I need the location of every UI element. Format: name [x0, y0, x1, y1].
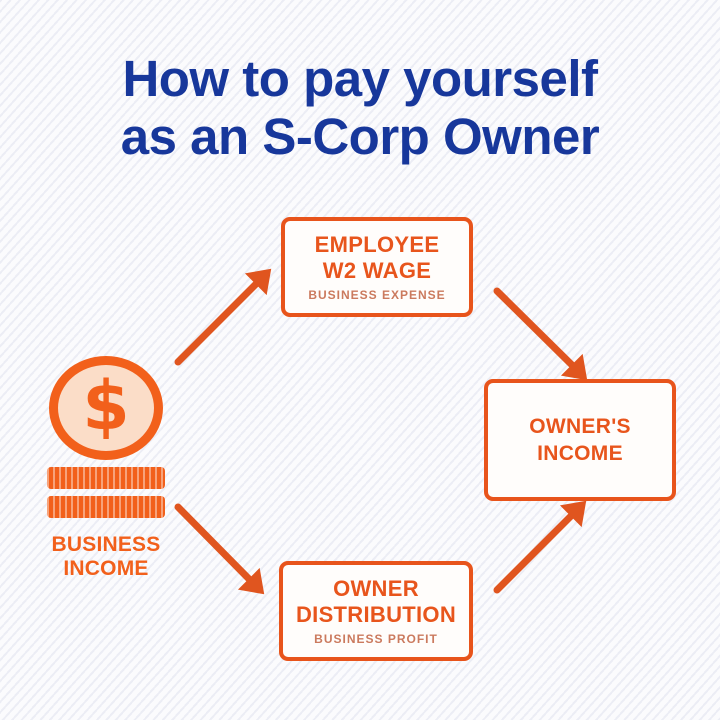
page-title-line-1: How to pay yourself — [0, 50, 720, 108]
node-owners-income-title: OWNER'S INCOME — [529, 413, 631, 467]
business-income-label-line-2: INCOME — [22, 557, 190, 581]
arrow-income-to-distribution — [178, 507, 263, 593]
coin-stack-bar-1 — [47, 467, 165, 489]
node-owner-distribution-title-line-2: DISTRIBUTION — [296, 602, 456, 628]
page-title-line-2: as an S-Corp Owner — [0, 108, 720, 166]
node-employee-w2-wage-title: EMPLOYEE W2 WAGE — [315, 232, 440, 284]
infographic-canvas: How to pay yourself as an S-Corp Owner — [0, 0, 720, 720]
arrow-w2-to-owner-income — [497, 291, 586, 379]
node-employee-w2-wage-subtitle: BUSINESS EXPENSE — [308, 288, 445, 303]
coin-stack-bar-2 — [47, 496, 165, 518]
node-employee-w2-wage-title-line-1: EMPLOYEE — [315, 232, 440, 258]
node-owner-distribution-subtitle: BUSINESS PROFIT — [314, 632, 438, 647]
node-owners-income-title-line-2: INCOME — [529, 440, 631, 467]
node-owner-distribution[interactable]: OWNER DISTRIBUTION BUSINESS PROFIT — [279, 561, 473, 661]
node-owner-distribution-title: OWNER DISTRIBUTION — [296, 576, 456, 628]
node-employee-w2-wage-title-line-2: W2 WAGE — [315, 258, 440, 284]
node-owners-income-title-line-1: OWNER'S — [529, 413, 631, 440]
node-employee-w2-wage[interactable]: EMPLOYEE W2 WAGE BUSINESS EXPENSE — [281, 217, 473, 317]
business-income-label-line-1: BUSINESS — [22, 533, 190, 557]
business-income-node: $ BUSINESS INCOME — [30, 352, 182, 584]
dollar-sign-glyph: $ — [82, 373, 129, 441]
arrow-distribution-to-owner-income — [497, 502, 585, 590]
dollar-coin-icon: $ — [49, 356, 163, 460]
arrow-income-to-w2 — [178, 270, 270, 362]
node-owner-distribution-title-line-1: OWNER — [296, 576, 456, 602]
page-title: How to pay yourself as an S-Corp Owner — [0, 50, 720, 166]
business-income-label: BUSINESS INCOME — [22, 533, 190, 581]
node-owners-income[interactable]: OWNER'S INCOME — [484, 379, 676, 501]
